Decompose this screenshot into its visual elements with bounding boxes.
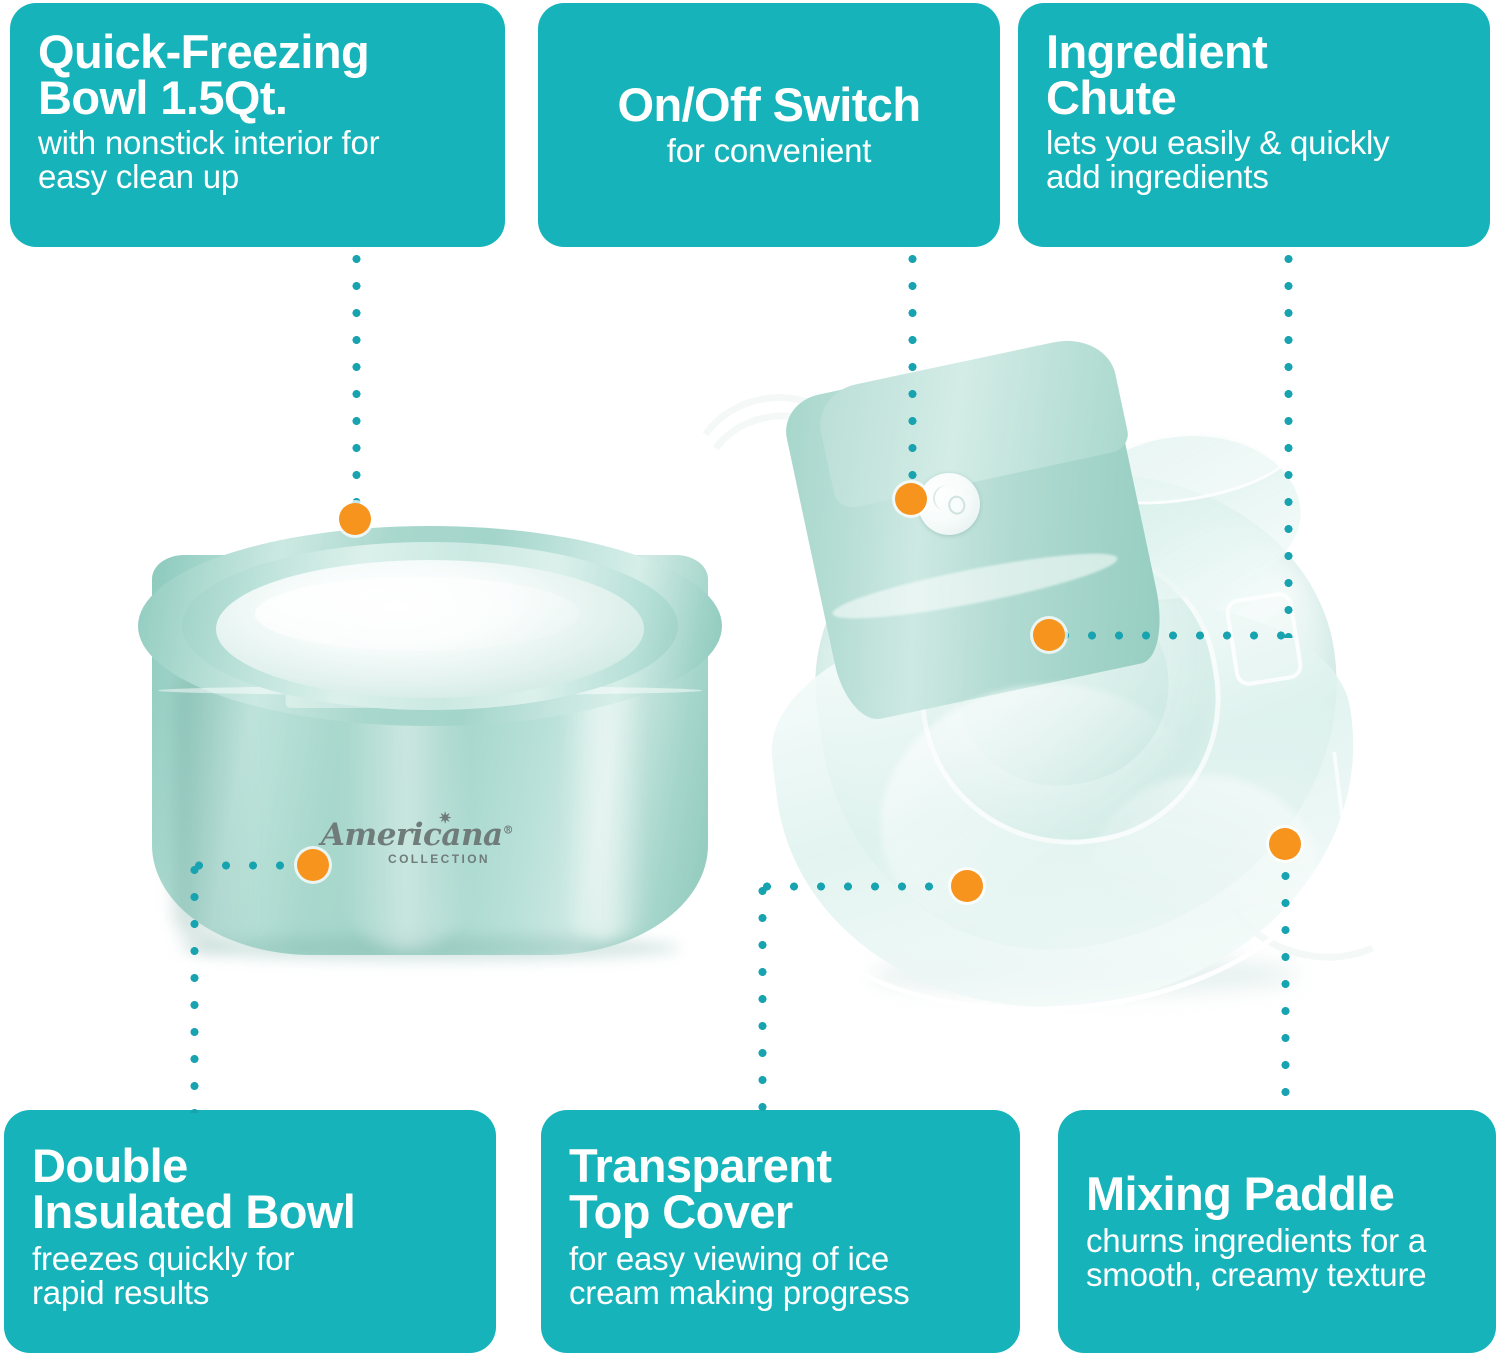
- product-photo: ✷Americana® COLLECTION: [0, 255, 1500, 1110]
- hotspot-ingredient-chute[interactable]: [1033, 619, 1065, 651]
- freezing-bowl-interior: [216, 560, 644, 698]
- callout-title: TransparentTop Cover: [569, 1143, 992, 1235]
- connector-ingredient-chute-horizontal: [1056, 631, 1290, 640]
- brand-logo-name: ✷Americana®: [321, 820, 513, 851]
- callout-subtitle: churns ingredients for asmooth, creamy t…: [1086, 1224, 1468, 1293]
- connector-mixing-paddle: [1281, 840, 1290, 1113]
- callout-subtitle: for convenient: [667, 134, 872, 168]
- callout-onoff-switch[interactable]: On/Off Switch for convenient: [538, 3, 1000, 247]
- connector-onoff-switch: [908, 250, 917, 498]
- registered-mark-icon: ®: [503, 824, 514, 837]
- callout-transparent-top-cover[interactable]: TransparentTop Cover for easy viewing of…: [541, 1110, 1020, 1353]
- base-left-shading: [174, 660, 254, 950]
- callout-subtitle: with nonstick interior foreasy clean up: [38, 126, 477, 195]
- connector-quick-freezing-bowl: [352, 250, 361, 518]
- connector-transparent-top-cover-horizontal: [758, 882, 966, 891]
- brand-logo-text: Americana: [321, 817, 503, 853]
- hotspot-transparent-top-cover[interactable]: [951, 870, 983, 902]
- callout-subtitle: freezes quickly forrapid results: [32, 1242, 468, 1311]
- callout-title: Quick-FreezingBowl 1.5Qt.: [38, 29, 477, 121]
- brand-logo-subtitle: COLLECTION: [356, 852, 522, 866]
- connector-ingredient-chute-vertical: [1284, 250, 1293, 638]
- starburst-icon: ✷: [439, 811, 451, 826]
- callout-title: DoubleInsulated Bowl: [32, 1143, 468, 1235]
- callout-double-insulated-bowl[interactable]: DoubleInsulated Bowl freezes quickly for…: [4, 1110, 496, 1353]
- hotspot-quick-freezing-bowl[interactable]: [339, 503, 371, 535]
- callout-title: IngredientChute: [1046, 29, 1462, 121]
- brand-logo: ✷Americana® COLLECTION: [312, 820, 522, 866]
- callout-mixing-paddle[interactable]: Mixing Paddle churns ingredients for asm…: [1058, 1110, 1496, 1353]
- callout-subtitle: lets you easily & quicklyadd ingredients: [1046, 126, 1462, 195]
- callout-title: Mixing Paddle: [1086, 1171, 1468, 1217]
- callout-quick-freezing-bowl[interactable]: Quick-FreezingBowl 1.5Qt. with nonstick …: [10, 3, 505, 247]
- connector-transparent-top-cover-vertical: [758, 882, 767, 1113]
- freezer-base-unit: ✷Americana® COLLECTION: [130, 430, 730, 990]
- lid-motor-assembly: [760, 355, 1460, 1015]
- callout-ingredient-chute[interactable]: IngredientChute lets you easily & quickl…: [1018, 3, 1490, 247]
- hotspot-onoff-switch[interactable]: [895, 483, 927, 515]
- connector-double-insulated-bowl-vertical: [190, 861, 199, 1113]
- callout-title: On/Off Switch: [618, 82, 921, 128]
- hotspot-double-insulated-bowl[interactable]: [297, 849, 329, 881]
- callout-subtitle: for easy viewing of icecream making prog…: [569, 1242, 992, 1311]
- hotspot-mixing-paddle[interactable]: [1269, 828, 1301, 860]
